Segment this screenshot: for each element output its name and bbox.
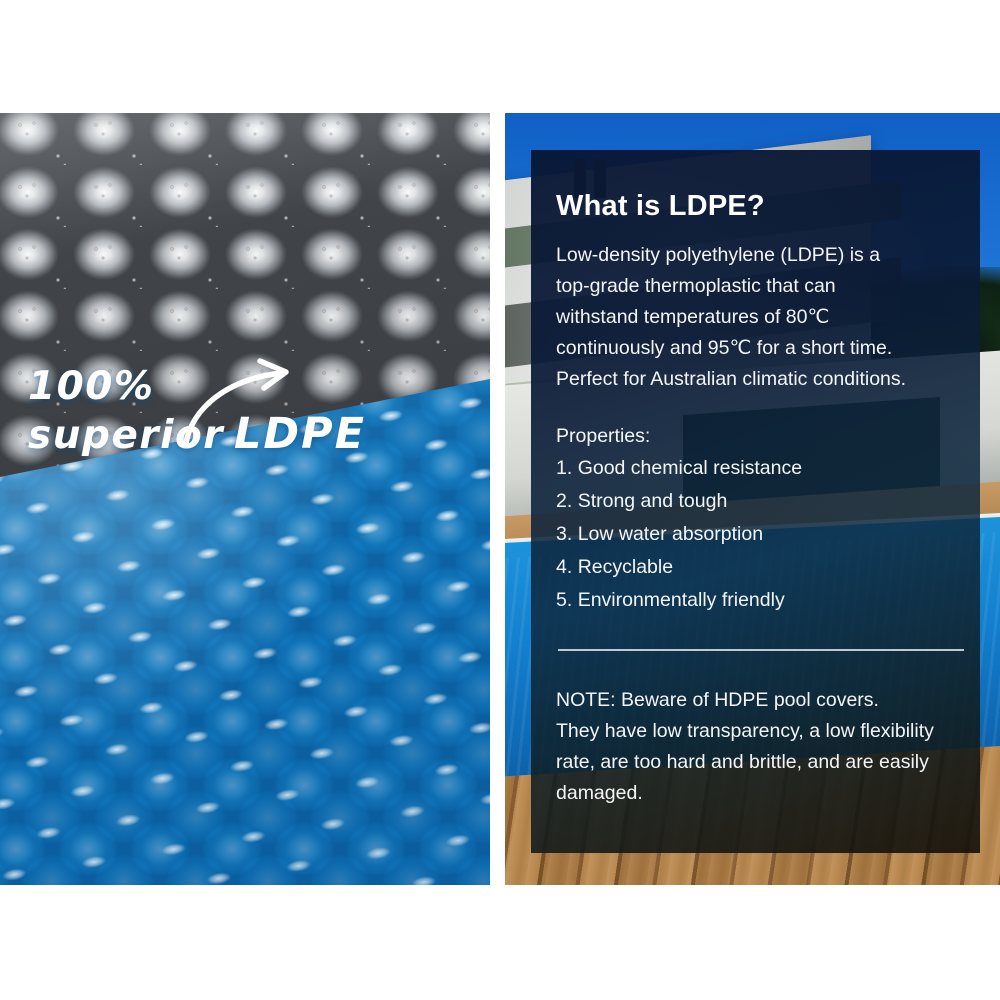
list-item-number: 2. — [556, 485, 572, 518]
list-item-label: Recyclable — [578, 556, 673, 578]
list-item-label: Low water absorption — [578, 523, 763, 545]
note-line-2: They have low transparency, a low flexib… — [556, 716, 966, 747]
note-line-3: rate, are too hard and brittle, and are … — [556, 747, 966, 778]
list-item-label: Good chemical resistance — [578, 457, 802, 479]
list-item: 2. Strong and tough — [556, 485, 966, 518]
properties-list: 1. Good chemical resistance 2. Strong an… — [556, 452, 966, 617]
list-item-label: Environmentally friendly — [578, 589, 785, 611]
card-paragraph: Low-density polyethylene (LDPE) is a top… — [556, 240, 966, 395]
list-item: 4. Recyclable — [556, 551, 966, 584]
right-image-panel: What is LDPE? Low-density polyethylene (… — [505, 113, 1000, 885]
list-item: 1. Good chemical resistance — [556, 452, 966, 485]
card-title: What is LDPE? — [556, 190, 966, 223]
note-line-4: damaged. — [556, 778, 966, 809]
list-item: 5. Environmentally friendly — [556, 584, 966, 617]
left-image-panel: 100% superiorLDPE — [0, 113, 490, 885]
list-item-number: 3. — [556, 518, 572, 551]
note-line-1: NOTE: Beware of HDPE pool covers. — [556, 685, 966, 716]
product-infographic: 100% superiorLDPE — [0, 0, 1000, 1000]
properties-heading: Properties: — [556, 421, 966, 452]
list-item-number: 4. — [556, 551, 572, 584]
list-item-number: 5. — [556, 584, 572, 617]
list-item: 3. Low water absorption — [556, 518, 966, 551]
paragraph-line-4: continuously and 95℃ for a short time. — [556, 333, 966, 364]
paragraph-line-1: Low-density polyethylene (LDPE) is a — [556, 240, 966, 271]
list-item-label: Strong and tough — [578, 490, 728, 512]
paragraph-line-2: top-grade thermoplastic that can — [556, 271, 966, 302]
note-block: NOTE: Beware of HDPE pool covers. They h… — [556, 685, 966, 809]
info-card: What is LDPE? Low-density polyethylene (… — [531, 150, 980, 853]
curved-arrow-icon — [178, 357, 338, 447]
list-item-number: 1. — [556, 452, 572, 485]
info-card-content: What is LDPE? Low-density polyethylene (… — [556, 150, 966, 809]
handwritten-callout: 100% superiorLDPE — [28, 365, 358, 459]
paragraph-line-5: Perfect for Australian climatic conditio… — [556, 364, 966, 395]
section-divider — [558, 649, 964, 651]
paragraph-line-3: withstand temperatures of 80℃ — [556, 302, 966, 333]
